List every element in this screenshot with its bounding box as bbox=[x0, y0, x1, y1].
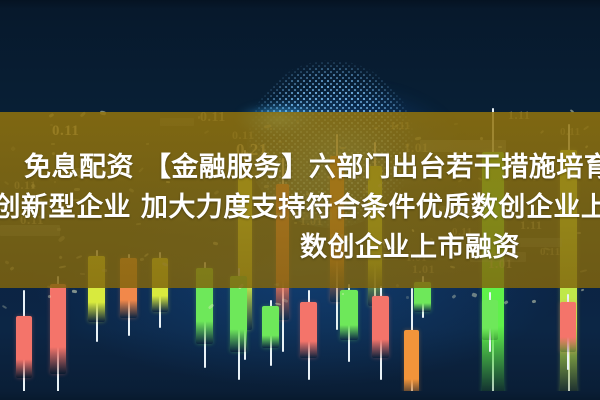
candle-body bbox=[482, 300, 498, 340]
bottom-edge-strip bbox=[0, 391, 600, 400]
candlestick bbox=[340, 284, 358, 362]
candle-body bbox=[404, 330, 419, 400]
candlestick bbox=[262, 300, 279, 366]
candle-body bbox=[50, 284, 66, 374]
candlestick bbox=[300, 290, 317, 380]
candle-body bbox=[300, 302, 317, 358]
candlestick bbox=[482, 292, 498, 352]
candlestick bbox=[560, 294, 576, 370]
headline-line-2: 济创新型企业 加大力度支持符合条件优质数创企业上 bbox=[0, 188, 600, 228]
candlestick bbox=[50, 276, 66, 394]
candle-body bbox=[16, 316, 32, 378]
candlestick bbox=[16, 290, 32, 396]
top-edge-strip bbox=[0, 0, 600, 8]
headline-text-block: 免息配资 【金融服务】六部门出台若干措施培育 济创新型企业 加大力度支持符合条件… bbox=[0, 112, 600, 288]
candlestick bbox=[372, 286, 389, 380]
headline-line-3: 数创企业上市融资 bbox=[300, 228, 520, 268]
candle-body bbox=[372, 296, 389, 358]
candle-body bbox=[560, 302, 576, 352]
candle-body bbox=[262, 306, 279, 348]
headline-line-1: 免息配资 【金融服务】六部门出台若干措施培育 bbox=[24, 148, 600, 188]
candle-body bbox=[340, 290, 358, 340]
banner-image: 0.110.110.110.211.111.011.110.110.111.11… bbox=[0, 0, 600, 400]
